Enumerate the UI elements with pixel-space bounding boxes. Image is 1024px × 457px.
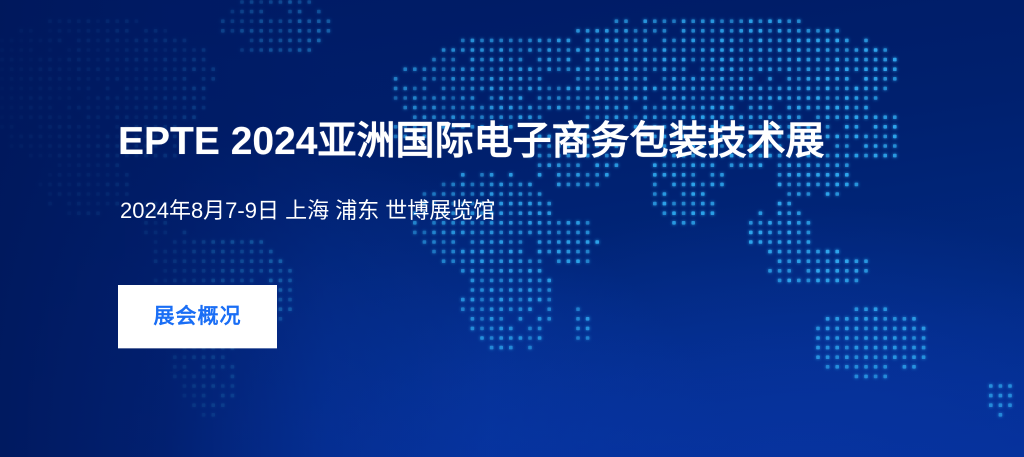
event-date-venue: 2024年8月7-9日 上海 浦东 世博展览馆 xyxy=(120,196,495,226)
page-title: EPTE 2024亚洲国际电子商务包装技术展 xyxy=(118,119,824,165)
exhibition-overview-button[interactable]: 展会概况 xyxy=(118,285,277,348)
banner-content: EPTE 2024亚洲国际电子商务包装技术展 2024年8月7-9日 上海 浦东… xyxy=(118,0,978,457)
event-hero-banner: EPTE 2024亚洲国际电子商务包装技术展 2024年8月7-9日 上海 浦东… xyxy=(0,0,1024,457)
exhibition-overview-button-label: 展会概况 xyxy=(154,306,242,327)
